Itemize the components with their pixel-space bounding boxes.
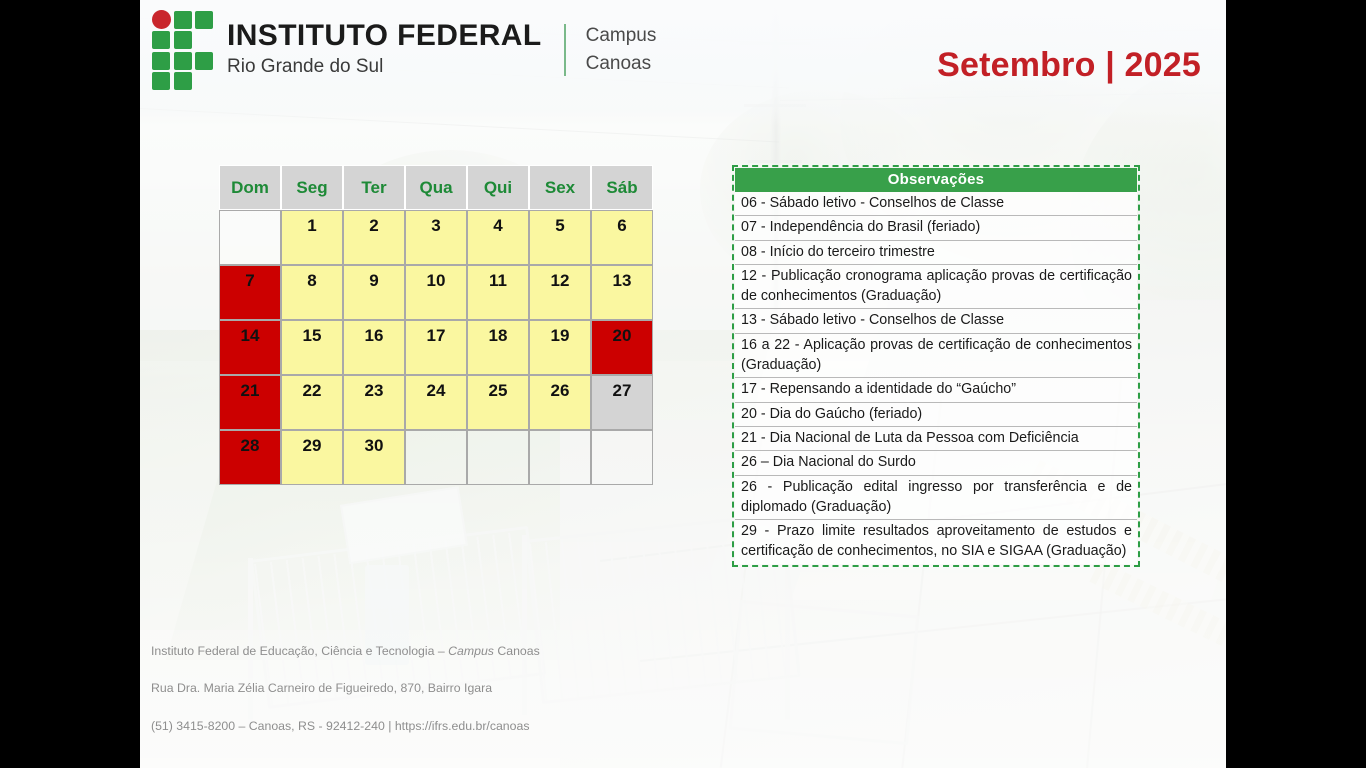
observation-item: 12 - Publicação cronograma aplicação pro…: [735, 265, 1137, 310]
observation-item: 26 – Dia Nacional do Surdo: [735, 451, 1137, 475]
calendar-day-cell[interactable]: 14: [219, 320, 281, 375]
calendar-day-cell[interactable]: 26: [529, 375, 591, 430]
calendar-day-cell[interactable]: 16: [343, 320, 405, 375]
calendar-day-cell[interactable]: 7: [219, 265, 281, 320]
calendar-day-cell[interactable]: 10: [405, 265, 467, 320]
footer-line-contact: (51) 3415-8200 – Canoas, RS - 92412-240 …: [151, 717, 540, 736]
calendar-day-cell[interactable]: 2: [343, 210, 405, 265]
observations-panel: Observações 06 - Sábado letivo - Conselh…: [732, 165, 1140, 567]
calendar-day-cell[interactable]: 8: [281, 265, 343, 320]
institutional-logo: INSTITUTO FEDERAL Rio Grande do Sul Camp…: [151, 8, 656, 92]
logo-wordmark: INSTITUTO FEDERAL Rio Grande do Sul: [227, 21, 542, 80]
calendar-day-cell[interactable]: 25: [467, 375, 529, 430]
calendar-day-cell: [591, 430, 653, 485]
weekday-header-sex: Sex: [529, 165, 591, 210]
weekday-header-seg: Seg: [281, 165, 343, 210]
calendar-day-cell: [467, 430, 529, 485]
calendar-day-cell[interactable]: 9: [343, 265, 405, 320]
observation-item: 29 - Prazo limite resultados aproveitame…: [735, 520, 1137, 564]
calendar-day-cell[interactable]: 6: [591, 210, 653, 265]
calendar-day-cell: [529, 430, 591, 485]
calendar-day-cell[interactable]: 21: [219, 375, 281, 430]
calendar-week-row: 21 22 23 24 25 26 27: [219, 375, 653, 430]
observation-item: 08 - Início do terceiro trimestre: [735, 241, 1137, 265]
institute-name: INSTITUTO FEDERAL: [227, 21, 542, 51]
calendar-body: 1 2 3 4 5 6 7 8 9 10 11 12 13: [219, 210, 653, 485]
observation-item: 06 - Sábado letivo - Conselhos de Classe: [735, 192, 1137, 216]
month-calendar: Dom Seg Ter Qua Qui Sex Sáb 1 2 3 4 5: [219, 165, 653, 485]
observation-item: 13 - Sábado letivo - Conselhos de Classe: [735, 309, 1137, 333]
calendar-day-cell[interactable]: 30: [343, 430, 405, 485]
campus-name: Canoas: [586, 50, 657, 78]
footer-contact-block: Instituto Federal de Educação, Ciência e…: [151, 623, 540, 754]
calendar-day-cell[interactable]: 17: [405, 320, 467, 375]
footer-line1-emphasis: Campus: [448, 644, 494, 658]
presentation-slide: INSTITUTO FEDERAL Rio Grande do Sul Camp…: [140, 0, 1226, 768]
calendar-week-row: 1 2 3 4 5 6: [219, 210, 653, 265]
weekday-header-qua: Qua: [405, 165, 467, 210]
header-band: INSTITUTO FEDERAL Rio Grande do Sul Camp…: [140, 0, 1226, 126]
calendar-day-cell[interactable]: [219, 210, 281, 265]
institute-region: Rio Grande do Sul: [227, 54, 542, 80]
observations-heading: Observações: [735, 168, 1137, 192]
campus-word: Campus: [586, 22, 657, 50]
calendar-day-cell[interactable]: 11: [467, 265, 529, 320]
calendar-day-cell[interactable]: 12: [529, 265, 591, 320]
observation-item: 20 - Dia do Gaúcho (feriado): [735, 403, 1137, 427]
calendar-week-row: 28 29 30: [219, 430, 653, 485]
calendar-day-cell[interactable]: 4: [467, 210, 529, 265]
calendar-day-cell[interactable]: 27: [591, 375, 653, 430]
calendar-header-row: Dom Seg Ter Qua Qui Sex Sáb: [219, 165, 653, 210]
footer-line-address: Rua Dra. Maria Zélia Carneiro de Figueir…: [151, 679, 540, 698]
calendar-week-row: 7 8 9 10 11 12 13: [219, 265, 653, 320]
calendar-day-cell[interactable]: 23: [343, 375, 405, 430]
observation-item: 26 - Publicação edital ingresso por tran…: [735, 476, 1137, 521]
footer-line1-post: Canoas: [494, 644, 540, 658]
observation-item: 07 - Independência do Brasil (feriado): [735, 216, 1137, 240]
footer-line1-pre: Instituto Federal de Educação, Ciência e…: [151, 644, 448, 658]
calendar-day-cell[interactable]: 28: [219, 430, 281, 485]
calendar-day-cell[interactable]: 29: [281, 430, 343, 485]
campus-label: Campus Canoas: [586, 22, 657, 77]
logo-divider: [564, 24, 566, 76]
footer-line-institution: Instituto Federal de Educação, Ciência e…: [151, 642, 540, 661]
calendar-day-cell[interactable]: 19: [529, 320, 591, 375]
weekday-header-sab: Sáb: [591, 165, 653, 210]
calendar-day-cell: [405, 430, 467, 485]
screenshot-stage: INSTITUTO FEDERAL Rio Grande do Sul Camp…: [0, 0, 1366, 768]
calendar-day-cell[interactable]: 22: [281, 375, 343, 430]
calendar-day-cell[interactable]: 18: [467, 320, 529, 375]
calendar-day-cell[interactable]: 20: [591, 320, 653, 375]
instituto-federal-logo-icon: [151, 8, 213, 92]
calendar-week-row: 14 15 16 17 18 19 20: [219, 320, 653, 375]
weekday-header-ter: Ter: [343, 165, 405, 210]
calendar-day-cell[interactable]: 15: [281, 320, 343, 375]
observation-item: 16 a 22 - Aplicação provas de certificaç…: [735, 334, 1137, 379]
calendar-day-cell[interactable]: 24: [405, 375, 467, 430]
calendar-day-cell[interactable]: 13: [591, 265, 653, 320]
observation-item: 17 - Repensando a identidade do “Gaúcho”: [735, 378, 1137, 402]
weekday-header-dom: Dom: [219, 165, 281, 210]
calendar-day-cell[interactable]: 3: [405, 210, 467, 265]
month-year-title: Setembro | 2025: [937, 46, 1201, 85]
weekday-header-qui: Qui: [467, 165, 529, 210]
calendar-day-cell[interactable]: 5: [529, 210, 591, 265]
calendar-day-cell[interactable]: 1: [281, 210, 343, 265]
observation-item: 21 - Dia Nacional de Luta da Pessoa com …: [735, 427, 1137, 451]
